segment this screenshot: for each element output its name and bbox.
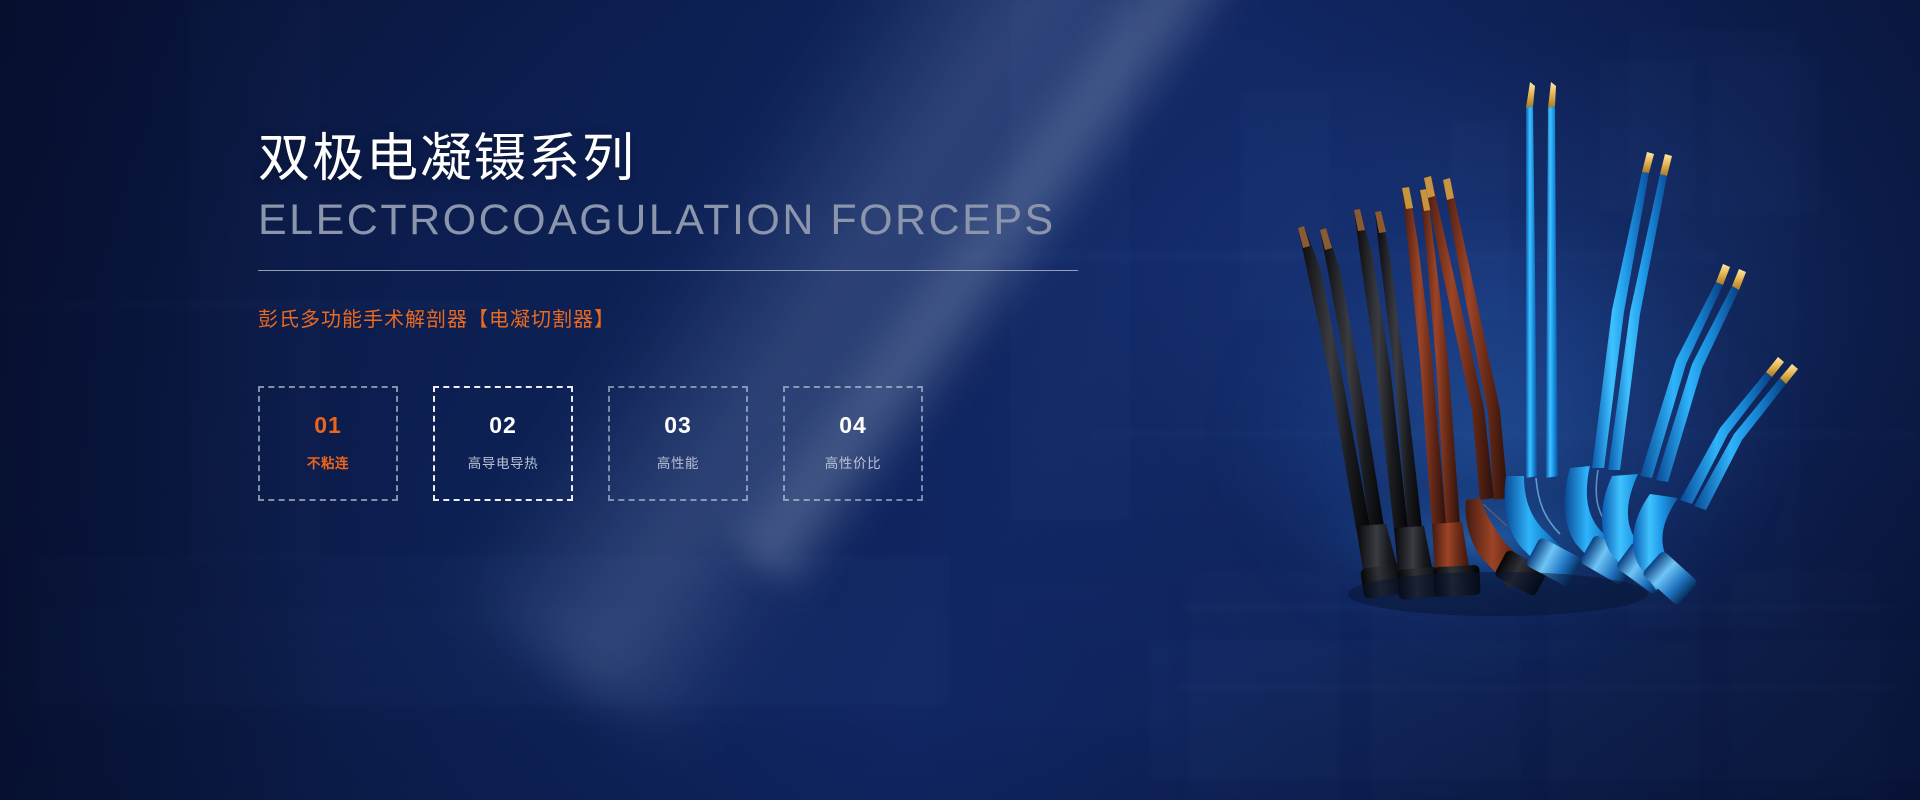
feature-label: 高导电导热 [468, 452, 539, 472]
feature-card-04[interactable]: 04 高性价比 [783, 386, 923, 501]
feature-label: 不粘连 [307, 452, 349, 472]
feature-label: 高性价比 [825, 452, 881, 472]
feature-number: 04 [839, 414, 867, 437]
feature-card-03[interactable]: 03 高性能 [608, 386, 748, 501]
product-hero-banner: 双极电凝镊系列 ELECTROCOAGULATION FORCEPS 彭氏多功能… [0, 0, 1920, 800]
feature-card-02[interactable]: 02 高导电导热 [433, 386, 573, 501]
product-image-forceps [1180, 60, 1800, 620]
feature-number: 02 [489, 414, 517, 437]
title-divider [258, 270, 1078, 271]
feature-number: 01 [314, 414, 342, 437]
hero-text-block: 双极电凝镊系列 ELECTROCOAGULATION FORCEPS 彭氏多功能… [258, 132, 1088, 501]
feature-label: 高性能 [657, 452, 699, 472]
forceps-blue-4 [1633, 357, 1798, 606]
feature-list: 01 不粘连 02 高导电导热 03 高性能 04 高性价比 [258, 386, 1088, 501]
feature-number: 03 [664, 414, 692, 437]
feature-card-01[interactable]: 01 不粘连 [258, 386, 398, 501]
page-subtitle: 彭氏多功能手术解剖器【电凝切割器】 [258, 303, 1088, 332]
page-title-cn: 双极电凝镊系列 [258, 132, 1088, 187]
page-title-en: ELECTROCOAGULATION FORCEPS [258, 197, 1088, 244]
